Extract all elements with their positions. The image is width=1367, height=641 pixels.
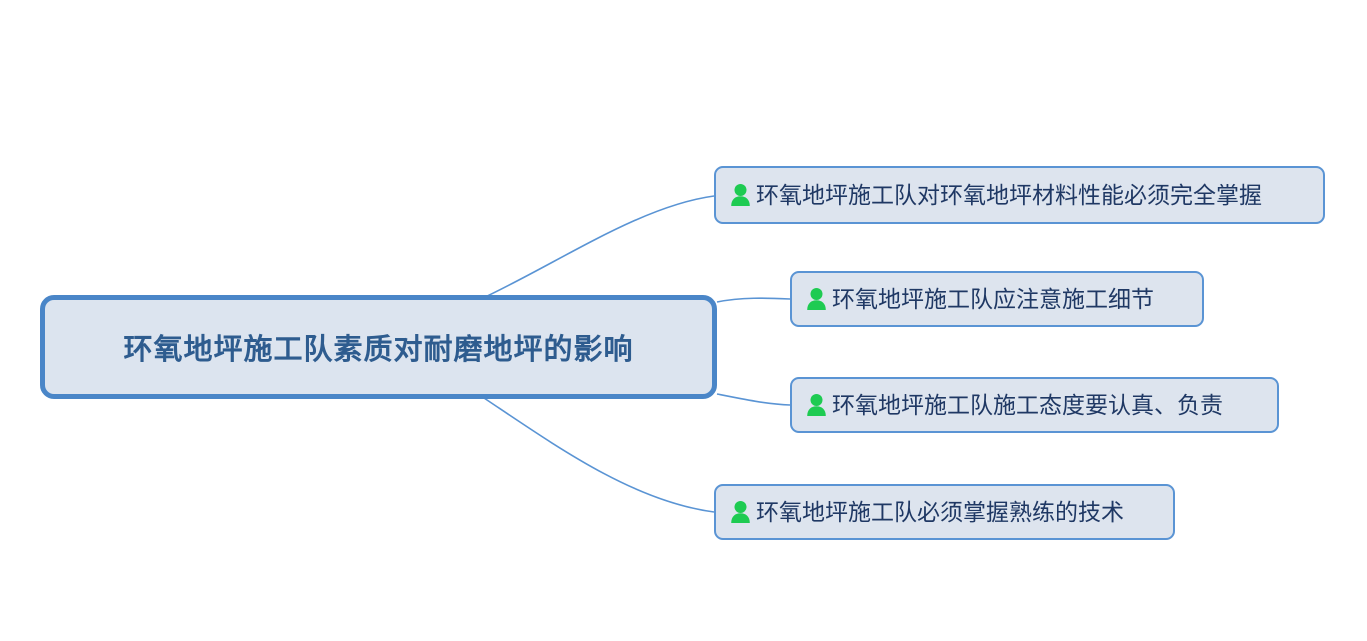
person-icon: [806, 393, 827, 417]
branch-node-2-label: 环氧地坪施工队应注意施工细节: [832, 288, 1154, 311]
connector-to-branch-2: [717, 298, 790, 302]
branch-node-1-label: 环氧地坪施工队对环氧地坪材料性能必须完全掌握: [756, 184, 1262, 207]
person-icon: [730, 500, 751, 524]
branch-node-2[interactable]: 环氧地坪施工队应注意施工细节: [790, 271, 1204, 327]
connector-to-branch-3: [717, 394, 790, 405]
branch-node-1[interactable]: 环氧地坪施工队对环氧地坪材料性能必须完全掌握: [714, 166, 1325, 224]
root-node[interactable]: 环氧地坪施工队素质对耐磨地坪的影响: [40, 295, 717, 399]
branch-node-4-label: 环氧地坪施工队必须掌握熟练的技术: [756, 501, 1124, 524]
connector-to-branch-4: [481, 396, 714, 512]
mindmap-canvas: 环氧地坪施工队素质对耐磨地坪的影响 环氧地坪施工队对环氧地坪材料性能必须完全掌握…: [0, 0, 1367, 641]
person-icon: [806, 287, 827, 311]
person-icon: [730, 183, 751, 207]
branch-node-3[interactable]: 环氧地坪施工队施工态度要认真、负责: [790, 377, 1279, 433]
connector-to-branch-1: [481, 196, 714, 299]
branch-node-4[interactable]: 环氧地坪施工队必须掌握熟练的技术: [714, 484, 1175, 540]
root-node-label: 环氧地坪施工队素质对耐磨地坪的影响: [123, 326, 633, 368]
branch-node-3-label: 环氧地坪施工队施工态度要认真、负责: [832, 394, 1223, 417]
